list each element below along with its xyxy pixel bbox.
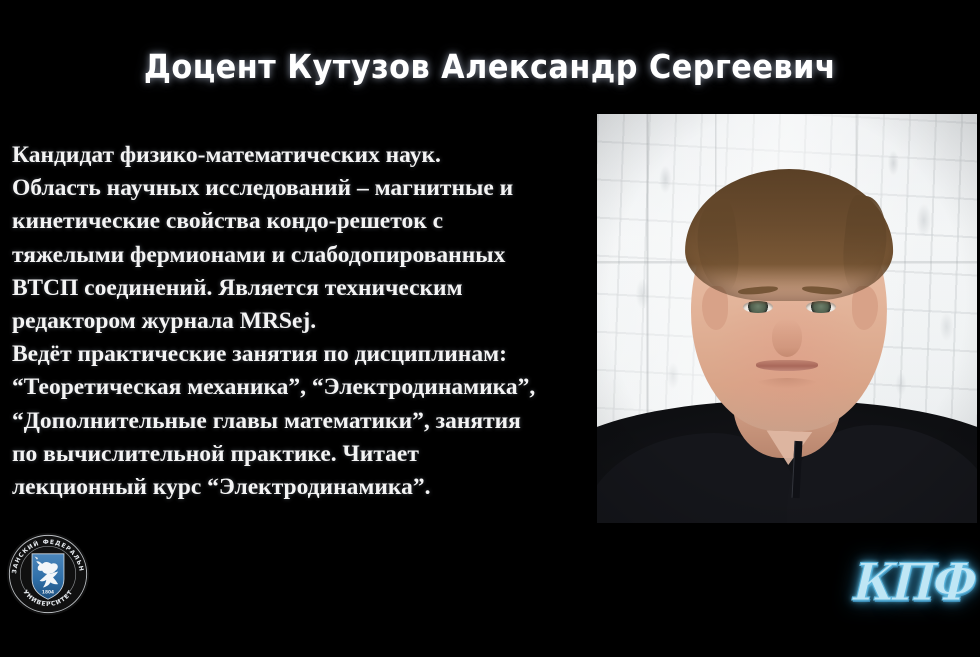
- seal-year: 1804: [42, 589, 54, 595]
- kpf-monogram-text: КПФ: [852, 547, 974, 616]
- biography-line: ВТСП соединений. Является техническим: [12, 272, 587, 305]
- page-title: Доцент Кутузов Александр Сергеевич: [39, 47, 941, 86]
- kpf-monogram-logo: КПФ: [854, 551, 972, 613]
- biography-line: “Теоретическая механика”, “Электродинами…: [12, 371, 587, 404]
- portrait-photo: [597, 114, 977, 523]
- photo-vignette: [597, 114, 977, 523]
- kazan-federal-university-logo: КАЗАНСКИЙ ФЕДЕРАЛЬНЫЙ УНИВЕРСИТЕТ 1804: [6, 532, 90, 616]
- biography-line: лекционный курс “Электродинамика”.: [12, 471, 587, 504]
- biography-text: Кандидат физико-математических наук. Обл…: [12, 139, 587, 504]
- biography-line: тяжелыми фермионами и слабодопированных: [12, 239, 587, 272]
- biography-line: Область научных исследований – магнитные…: [12, 172, 587, 205]
- biography-line: Кандидат физико-математических наук.: [12, 139, 587, 172]
- biography-line: по вычислительной практике. Читает: [12, 438, 587, 471]
- presentation-slide: Доцент Кутузов Александр Сергеевич Канди…: [0, 0, 980, 657]
- biography-line: редактором журнала MRSej.: [12, 305, 587, 338]
- biography-line: кинетические свойства кондо-решеток с: [12, 205, 587, 238]
- biography-line: Ведёт практические занятия по дисциплина…: [12, 338, 587, 371]
- biography-line: “Дополнительные главы математики”, занят…: [12, 405, 587, 438]
